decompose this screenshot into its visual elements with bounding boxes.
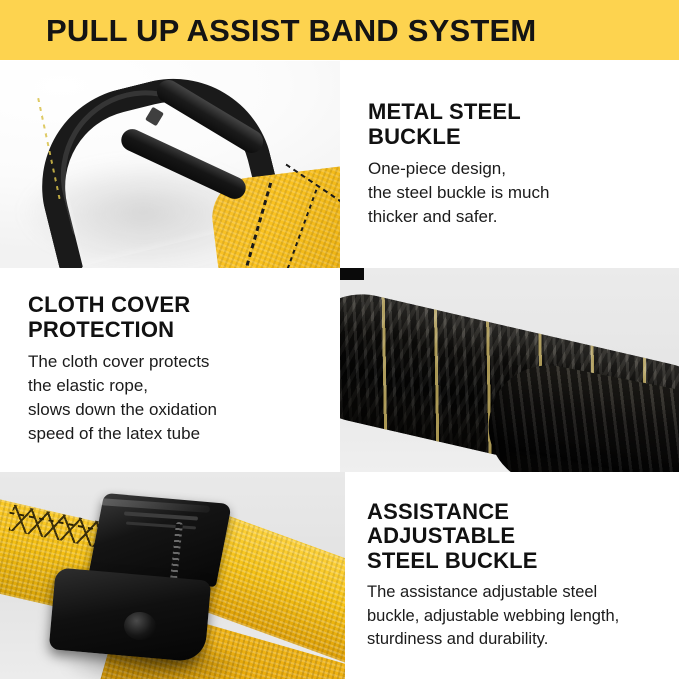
feature-photo-cloth-cover-protection [340,268,679,472]
feature-body-cloth-cover-protection: The cloth cover protects the elastic rop… [28,350,322,447]
feature-body-metal-steel-buckle: One-piece design, the steel buckle is mu… [368,157,661,229]
header-banner: PULL UP ASSIST BAND SYSTEM [0,0,679,60]
feature-heading-assistance-adjustable-steel-buckle: ASSISTANCE ADJUSTABLE STEEL BUCKLE [367,500,665,575]
carabiner-hook-photo [0,61,340,268]
feature-heading-metal-steel-buckle: METAL STEEL BUCKLE [368,100,661,150]
page-title: PULL UP ASSIST BAND SYSTEM [46,15,536,46]
feature-text-metal-steel-buckle: METAL STEEL BUCKLE One-piece design, the… [340,61,679,268]
feature-body-assistance-adjustable-steel-buckle: The assistance adjustable steel buckle, … [367,581,665,651]
feature-heading-cloth-cover-protection: CLOTH COVER PROTECTION [28,293,322,343]
feature-text-cloth-cover-protection: CLOTH COVER PROTECTION The cloth cover p… [0,268,340,472]
cloth-sleeve-photo [340,268,679,472]
feature-photo-assistance-adjustable-steel-buckle [0,472,345,679]
photo-corner-block [340,268,364,280]
product-infographic: PULL UP ASSIST BAND SYSTEM METAL STEEL B… [0,0,679,679]
feature-text-assistance-adjustable-steel-buckle: ASSISTANCE ADJUSTABLE STEEL BUCKLE The a… [345,472,679,679]
cam-buckle-photo [0,472,345,679]
feature-photo-metal-steel-buckle [0,61,340,268]
